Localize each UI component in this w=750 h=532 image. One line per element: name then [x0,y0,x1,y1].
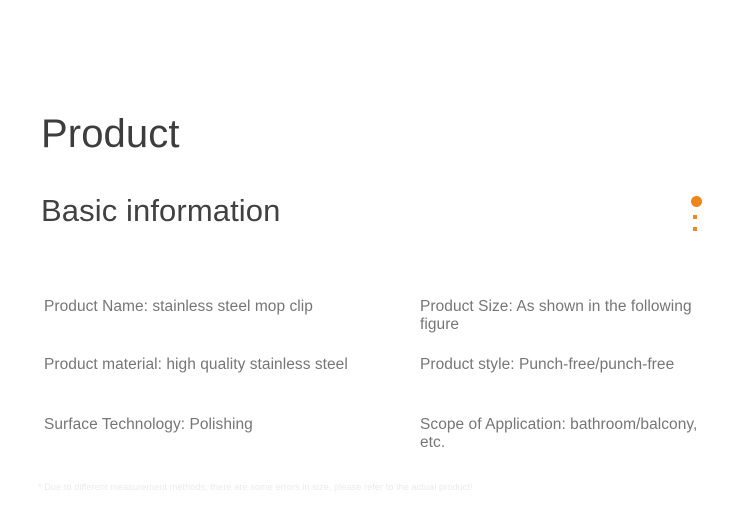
spec-item-product-material: Product material: high quality stainless… [44,356,384,374]
dot-decoration [688,194,704,238]
measurement-disclaimer-footnote: * Due to different measurement methods, … [38,482,516,494]
spec-item-scope-of-application: Scope of Application: bathroom/balcony, … [420,416,720,451]
page-title-block: Product [41,112,681,156]
section-title-basic-information: Basic information [41,192,280,230]
small-dot-icon-2 [693,227,697,231]
spec-item-surface-technology: Surface Technology: Polishing [44,416,384,434]
large-dot-icon [691,196,702,207]
page-title: Product [41,112,681,156]
spec-item-product-size: Product Size: As shown in the following … [420,298,720,333]
specification-grid: Product Name: stainless steel mop clip P… [0,296,750,456]
spec-item-product-style: Product style: Punch-free/punch-free [420,356,720,374]
section-header-row: Basic information [41,192,713,238]
spec-item-product-name: Product Name: stainless steel mop clip [44,298,384,316]
product-info-page: Product Basic information Product Name: … [0,0,750,532]
small-dot-icon-1 [693,215,697,219]
